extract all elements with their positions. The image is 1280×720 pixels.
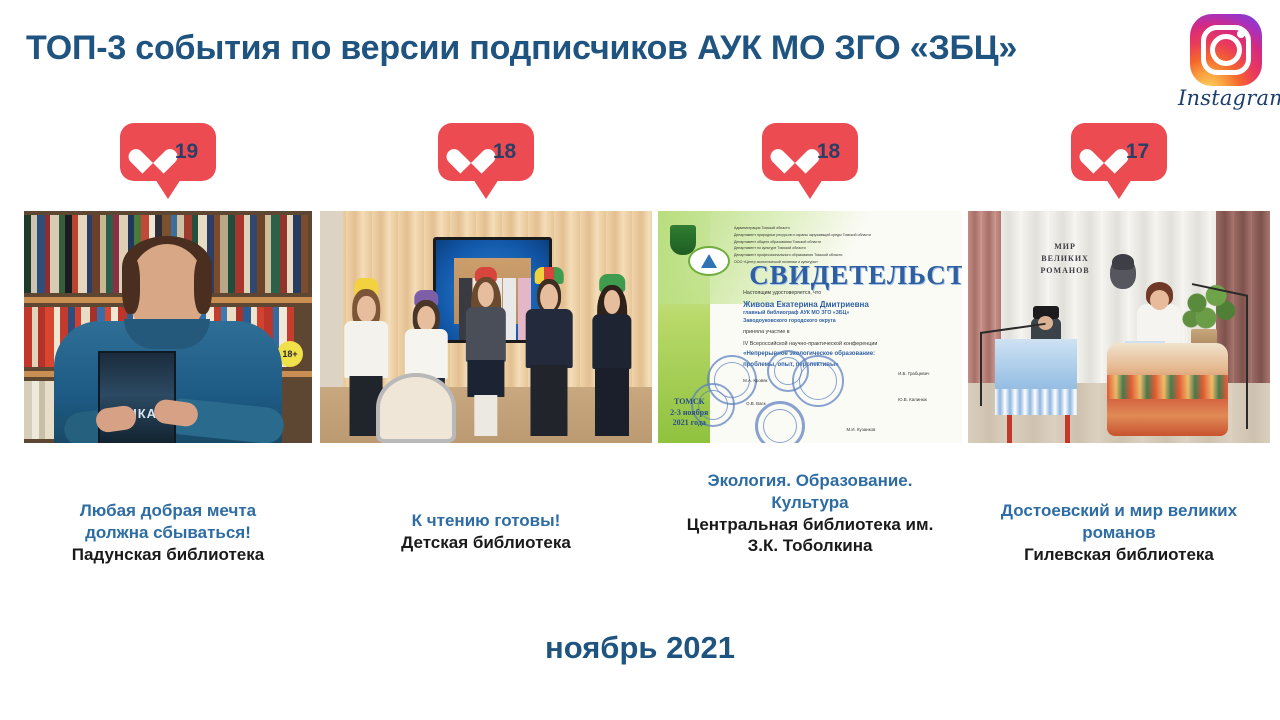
conference-emblem-icon bbox=[688, 246, 730, 276]
certificate-intro: Настоящим удостоверяется, что bbox=[743, 290, 944, 296]
like-badge-4: 17 bbox=[1071, 123, 1167, 181]
event-title-line-2: Культура bbox=[658, 492, 962, 514]
certificate-role-1: главный библиограф АУК МО ЗГО «ЗБЦ» bbox=[743, 310, 944, 318]
event-title-line-2: романов bbox=[968, 522, 1270, 544]
child-face bbox=[417, 306, 435, 331]
like-badge-2: 18 bbox=[438, 123, 534, 181]
certificate-person: Живова Екатерина Дмитриевна bbox=[743, 300, 944, 309]
certificate-place: ТОМСК bbox=[670, 397, 708, 408]
heart-icon bbox=[138, 138, 168, 166]
signature-name: И.Б. Грабцевич bbox=[898, 371, 929, 376]
backdrop-line-2: ВЕЛИКИХ bbox=[1040, 253, 1089, 265]
photo-certificate[interactable]: Администрация Томской области Департамен… bbox=[658, 211, 962, 443]
badge-tail bbox=[473, 179, 499, 199]
like-count: 19 bbox=[175, 141, 198, 164]
signature-name: М.А. Кровяк bbox=[743, 378, 767, 383]
footer-date: ноябрь 2021 bbox=[0, 630, 1280, 666]
badge-tail bbox=[155, 179, 181, 199]
child-skirt bbox=[595, 368, 629, 436]
event-title-line-1: К чтению готовы! bbox=[320, 510, 652, 532]
child-trousers bbox=[531, 365, 568, 436]
org-line: Департамент профессионального образовани… bbox=[734, 252, 935, 259]
event-title-line-2: должна сбываться! bbox=[24, 522, 312, 544]
child-tights bbox=[474, 395, 497, 436]
org-line: Департамент по культуре Томской области bbox=[734, 245, 935, 252]
caption-2: К чтению готовы! Детская библиотека bbox=[320, 510, 652, 554]
child-vest bbox=[526, 309, 573, 368]
tablecloth-lace bbox=[995, 389, 1077, 415]
child-face bbox=[357, 296, 375, 323]
certificate-heading: СВИДЕТЕЛЬСТВО bbox=[749, 260, 962, 291]
instagram-icon bbox=[1190, 14, 1262, 86]
table-leg bbox=[1065, 415, 1070, 443]
top-events-row: 19 bbox=[0, 118, 1280, 588]
backdrop-line-1: МИР bbox=[1040, 241, 1089, 253]
like-badge-1: 19 bbox=[120, 123, 216, 181]
photo-children-performance[interactable] bbox=[320, 211, 652, 443]
library-name: Детская библиотека bbox=[320, 532, 652, 554]
microphone-stand-left bbox=[980, 332, 982, 406]
backdrop-line-3: РОМАНОВ bbox=[1040, 265, 1089, 277]
signature-name: Ю.В. Калинюк bbox=[898, 397, 927, 402]
certificate-date-2: 2021 года bbox=[670, 418, 708, 429]
certificate-conference: IV Всероссийской научно-практической кон… bbox=[743, 340, 944, 348]
child-skirt bbox=[467, 360, 504, 397]
like-count: 17 bbox=[1126, 141, 1149, 164]
child-top bbox=[345, 321, 389, 378]
instagram-wordmark: Instagram bbox=[1178, 86, 1274, 110]
org-line: Департамент природных ресурсов и охраны … bbox=[734, 232, 935, 239]
org-line: Департамент общего образования Томской о… bbox=[734, 239, 935, 246]
library-name: Падунская библиотека bbox=[24, 544, 312, 566]
person-hair-left bbox=[122, 256, 140, 314]
dostoevsky-portrait bbox=[1110, 257, 1136, 289]
library-name: Гилевская библиотека bbox=[968, 544, 1270, 566]
event-title-line-1: Достоевский и мир великих bbox=[968, 500, 1270, 522]
child-top bbox=[405, 329, 447, 379]
caption-1: Любая добрая мечта должна сбываться! Пад… bbox=[24, 500, 312, 565]
child-5 bbox=[586, 274, 639, 436]
instagram-logo: Instagram bbox=[1178, 14, 1274, 114]
library-name-line-1: Центральная библиотека им. bbox=[658, 514, 962, 536]
page-title: ТОП-3 события по версии подписчиков АУК … bbox=[26, 29, 1017, 68]
event-title-line-1: Экология. Образование. bbox=[658, 470, 962, 492]
signature-name: О.В. Васк bbox=[746, 401, 766, 406]
certificate-place-date: ТОМСК 2-3 ноября 2021 года bbox=[670, 397, 708, 429]
table-right bbox=[1107, 343, 1228, 436]
certificate-action: приняла участие в bbox=[743, 328, 944, 336]
photo-woman-with-book[interactable]: 18+ bbox=[24, 211, 312, 443]
like-badge-3: 18 bbox=[762, 123, 858, 181]
event-title-line-1: Любая добрая мечта bbox=[24, 500, 312, 522]
instagram-lens-shape bbox=[1210, 34, 1242, 66]
child-4 bbox=[519, 267, 579, 436]
certificate-role-2: Заводоуковского городского округа bbox=[743, 318, 944, 326]
badge-tail bbox=[797, 179, 823, 199]
caption-4: Достоевский и мир великих романов Гилевс… bbox=[968, 500, 1270, 565]
host-face bbox=[1150, 290, 1169, 310]
tablecloth-ornament bbox=[1107, 375, 1228, 399]
certificate-date-1: 2-3 ноября bbox=[670, 408, 708, 419]
instagram-dot-shape bbox=[1237, 30, 1245, 38]
photo-stage-dostoevsky[interactable]: МИР ВЕЛИКИХ РОМАНОВ bbox=[968, 211, 1270, 443]
child-face bbox=[540, 284, 558, 311]
heart-icon bbox=[456, 138, 486, 166]
like-count: 18 bbox=[493, 141, 516, 164]
chair bbox=[376, 373, 456, 443]
org-line: Администрация Томской области bbox=[734, 225, 935, 232]
badge-tail bbox=[1106, 179, 1132, 199]
caption-3: Экология. Образование. Культура Централь… bbox=[658, 470, 962, 557]
microphone-stand-right bbox=[1246, 295, 1248, 430]
table-left bbox=[995, 339, 1077, 416]
official-seal-main bbox=[755, 401, 805, 443]
child-3 bbox=[459, 267, 512, 436]
like-count: 18 bbox=[817, 141, 840, 164]
child-pinafore bbox=[592, 314, 631, 369]
backdrop-title: МИР ВЕЛИКИХ РОМАНОВ bbox=[1040, 241, 1089, 277]
table-leg bbox=[1007, 415, 1012, 443]
heart-icon bbox=[780, 138, 810, 166]
child-top bbox=[466, 307, 506, 361]
signature-name: М.И. Кузанков bbox=[846, 427, 875, 432]
page-header: ТОП-3 события по версии подписчиков АУК … bbox=[0, 0, 1280, 118]
library-name-line-2: З.К. Тоболкина bbox=[658, 535, 962, 557]
heart-icon bbox=[1089, 138, 1119, 166]
child-face bbox=[604, 290, 620, 314]
person-hair-right bbox=[194, 256, 212, 314]
